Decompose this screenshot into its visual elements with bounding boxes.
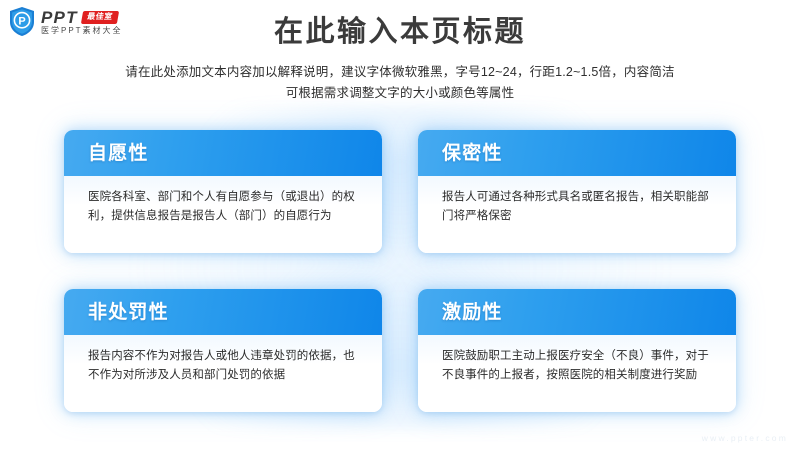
card-body: 报告人可通过各种形式具名或匿名报告，相关职能部门将严格保密 — [418, 176, 736, 253]
card-non-punitive[interactable]: 非处罚性 报告内容不作为对报告人或他人违章处罚的依据，也不作为对所涉及人员和部门… — [64, 289, 382, 412]
card-body: 报告内容不作为对报告人或他人违章处罚的依据，也不作为对所涉及人员和部门处罚的依据 — [64, 335, 382, 412]
card-incentive[interactable]: 激励性 医院鼓励职工主动上报医疗安全（不良）事件，对于不良事件的上报者，按照医院… — [418, 289, 736, 412]
card-grid: 自愿性 医院各科室、部门和个人有自愿参与（或退出）的权利，提供信息报告是报告人（… — [64, 130, 736, 412]
card-header: 保密性 — [418, 130, 736, 176]
card-header: 自愿性 — [64, 130, 382, 176]
subtitle-line-1: 请在此处添加文本内容加以解释说明，建议字体微软雅黑，字号12~24，行距1.2~… — [0, 62, 800, 83]
card-text: 报告人可通过各种形式具名或匿名报告，相关职能部门将严格保密 — [442, 188, 718, 226]
card-body: 医院各科室、部门和个人有自愿参与（或退出）的权利，提供信息报告是报告人（部门）的… — [64, 176, 382, 253]
card-title: 保密性 — [442, 144, 503, 163]
card-title: 非处罚性 — [88, 303, 169, 322]
subtitle-line-2: 可根据需求调整文字的大小或颜色等属性 — [0, 83, 800, 104]
card-body: 医院鼓励职工主动上报医疗安全（不良）事件，对于不良事件的上报者，按照医院的相关制… — [418, 335, 736, 412]
card-title: 激励性 — [442, 303, 503, 322]
card-confidentiality[interactable]: 保密性 报告人可通过各种形式具名或匿名报告，相关职能部门将严格保密 — [418, 130, 736, 253]
card-text: 报告内容不作为对报告人或他人违章处罚的依据，也不作为对所涉及人员和部门处罚的依据 — [88, 347, 364, 385]
card-voluntary[interactable]: 自愿性 医院各科室、部门和个人有自愿参与（或退出）的权利，提供信息报告是报告人（… — [64, 130, 382, 253]
card-header: 激励性 — [418, 289, 736, 335]
card-text: 医院各科室、部门和个人有自愿参与（或退出）的权利，提供信息报告是报告人（部门）的… — [88, 188, 364, 226]
card-title: 自愿性 — [88, 144, 149, 163]
site-watermark: www.ppter.com — [702, 433, 788, 443]
slide-canvas: P PPT 最佳室 医学PPT素材大全 在此输入本页标题 请在此处添加文本内容加… — [0, 0, 800, 450]
card-text: 医院鼓励职工主动上报医疗安全（不良）事件，对于不良事件的上报者，按照医院的相关制… — [442, 347, 718, 385]
page-subtitle: 请在此处添加文本内容加以解释说明，建议字体微软雅黑，字号12~24，行距1.2~… — [0, 62, 800, 104]
page-title: 在此输入本页标题 — [0, 16, 800, 49]
card-header: 非处罚性 — [64, 289, 382, 335]
